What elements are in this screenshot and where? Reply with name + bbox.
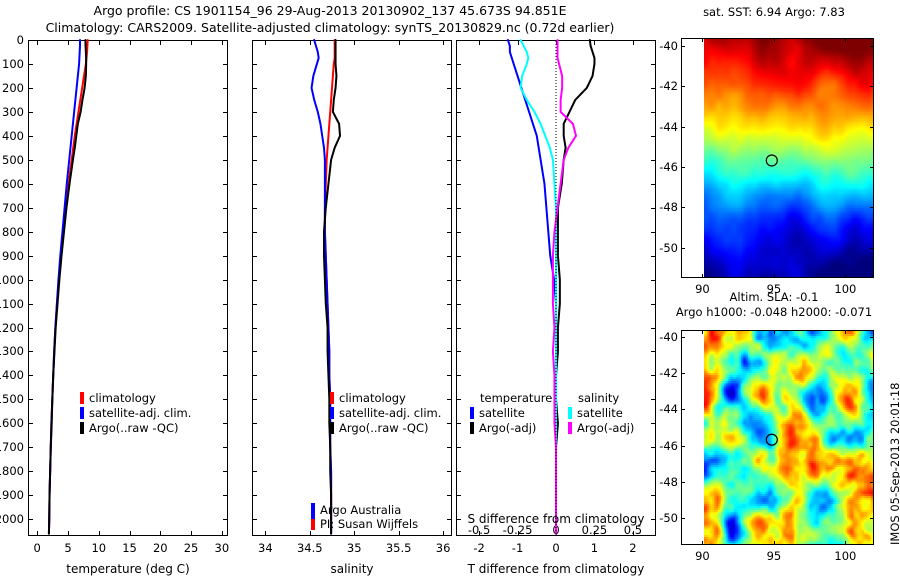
sla-map-marker — [0, 0, 900, 580]
imos-watermark: IMOS 05-Sep-2013 20:01:18 — [888, 383, 900, 546]
